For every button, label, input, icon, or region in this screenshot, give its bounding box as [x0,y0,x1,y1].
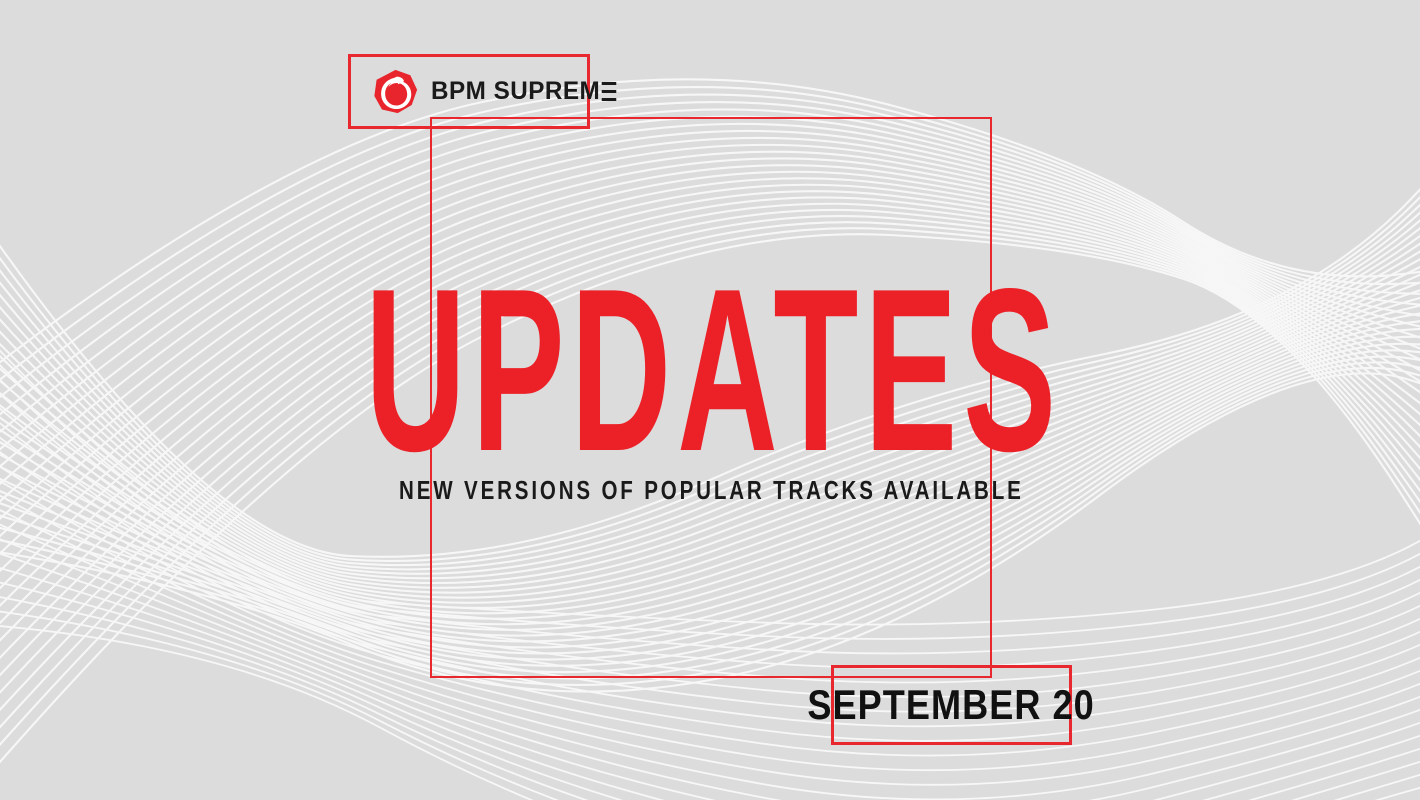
date-badge-label: SEPTEMBER 20 [808,684,1095,726]
logo-stylized-e-icon [602,82,617,101]
page-title: UPDATES [360,285,1063,457]
logo-wordmark: BPM SUPREM [431,79,617,104]
promo-graphic-canvas: BPM SUPREM UPDATES NEW VERSIONS OF POPUL… [0,0,1420,800]
logo-wordmark-text: BPM SUPREM [431,79,600,104]
bpm-supreme-logo-icon [373,69,418,114]
page-subtitle: NEW VERSIONS OF POPULAR TRACKS AVAILABLE [399,477,1024,503]
headline-block: UPDATES NEW VERSIONS OF POPULAR TRACKS A… [430,117,992,678]
logo-center-dot-icon [391,89,401,99]
date-badge: SEPTEMBER 20 [831,665,1072,745]
